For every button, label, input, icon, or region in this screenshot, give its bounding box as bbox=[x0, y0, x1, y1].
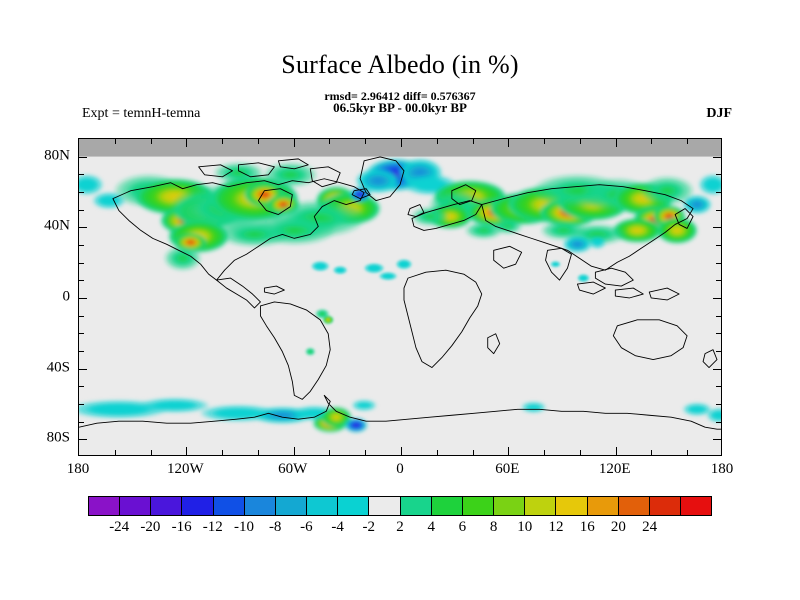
lon-tick-top-minor bbox=[258, 139, 259, 144]
lat-tick-right-major bbox=[713, 157, 721, 158]
lon-tick-major bbox=[616, 447, 617, 455]
lon-tick-top-minor bbox=[115, 139, 116, 144]
lon-tick-minor bbox=[222, 450, 223, 455]
colorbar-tick-label: -10 bbox=[234, 519, 254, 536]
lon-label-60w: 60W bbox=[278, 461, 307, 478]
colorbar-segment bbox=[588, 497, 619, 515]
lat-tick-right-major bbox=[713, 227, 721, 228]
colorbar-segment bbox=[401, 497, 432, 515]
lat-tick-right-minor bbox=[716, 316, 721, 317]
lat-tick-minor bbox=[79, 404, 84, 405]
lon-tick-minor bbox=[258, 450, 259, 455]
lat-tick-right-major bbox=[713, 298, 721, 299]
lon-tick-minor bbox=[151, 450, 152, 455]
lat-tick-minor bbox=[79, 386, 84, 387]
lat-tick-right-minor bbox=[716, 192, 721, 193]
lon-label-60e: 60E bbox=[495, 461, 519, 478]
colorbar-tick-labels: -24-20-16-12-10-8-6-4-224681012162024 bbox=[88, 519, 712, 541]
lon-label-180e: 180 bbox=[711, 461, 734, 478]
colorbar-segment bbox=[151, 497, 182, 515]
lon-tick-minor bbox=[544, 450, 545, 455]
lat-tick-right-minor bbox=[716, 422, 721, 423]
lon-label-120w: 120W bbox=[167, 461, 204, 478]
experiment-label: Expt = temnH-temna bbox=[82, 106, 200, 122]
lat-tick-right-major bbox=[713, 439, 721, 440]
colorbar-segment bbox=[182, 497, 213, 515]
colorbar-tick-label: 20 bbox=[611, 519, 626, 536]
page-title: Surface Albedo (in %) bbox=[0, 50, 800, 80]
colorbar-tick-label: 12 bbox=[549, 519, 564, 536]
colorbar-segment bbox=[89, 497, 120, 515]
colorbar-tick-label: -8 bbox=[269, 519, 282, 536]
world-map-heatmap bbox=[79, 139, 721, 455]
map-plot-area[interactable] bbox=[78, 138, 722, 456]
lon-tick-minor bbox=[437, 450, 438, 455]
lon-tick-top-major bbox=[186, 139, 187, 147]
lon-label-0: 0 bbox=[396, 461, 404, 478]
lon-tick-top-minor bbox=[687, 139, 688, 144]
season-label: DJF bbox=[706, 106, 732, 122]
colorbar-tick-label: 4 bbox=[427, 519, 435, 536]
colorbar-segment bbox=[120, 497, 151, 515]
colorbar-tick-label: 8 bbox=[490, 519, 498, 536]
lat-tick-right-minor bbox=[716, 404, 721, 405]
colorbar-segment bbox=[276, 497, 307, 515]
lon-tick-top-minor bbox=[329, 139, 330, 144]
lon-tick-top-minor bbox=[580, 139, 581, 144]
lon-tick-top-minor bbox=[365, 139, 366, 144]
lat-tick-right-minor bbox=[716, 174, 721, 175]
colorbar-segment bbox=[650, 497, 681, 515]
lat-tick-right-minor bbox=[716, 386, 721, 387]
lon-tick-top-major bbox=[294, 139, 295, 147]
lat-tick-minor bbox=[79, 351, 84, 352]
lon-tick-top-major bbox=[508, 139, 509, 147]
colorbar-segment bbox=[307, 497, 338, 515]
colorbar-segment bbox=[432, 497, 463, 515]
lon-tick-top-minor bbox=[151, 139, 152, 144]
lat-tick-right-minor bbox=[716, 210, 721, 211]
lat-tick-minor bbox=[79, 422, 84, 423]
lat-tick-major bbox=[79, 298, 87, 299]
lon-tick-top-major bbox=[616, 139, 617, 147]
colorbar-segment bbox=[525, 497, 556, 515]
lon-tick-minor bbox=[473, 450, 474, 455]
colorbar-tick-label: 10 bbox=[517, 519, 532, 536]
lon-label-120e: 120E bbox=[599, 461, 631, 478]
colorbar-segment bbox=[494, 497, 525, 515]
lon-tick-minor bbox=[687, 450, 688, 455]
lon-tick-minor bbox=[115, 450, 116, 455]
lat-tick-minor bbox=[79, 333, 84, 334]
lat-tick-right-minor bbox=[716, 280, 721, 281]
lon-tick-minor bbox=[365, 450, 366, 455]
colorbar-tick-label: -6 bbox=[300, 519, 313, 536]
lon-tick-top-minor bbox=[222, 139, 223, 144]
colorbar-segment bbox=[619, 497, 650, 515]
lon-tick-top-minor bbox=[473, 139, 474, 144]
lon-tick-major bbox=[401, 447, 402, 455]
lat-tick-major bbox=[79, 369, 87, 370]
lon-label-180w: 180 bbox=[67, 461, 90, 478]
lat-tick-right-minor bbox=[716, 351, 721, 352]
lat-tick-minor bbox=[79, 245, 84, 246]
arctic-grey-band bbox=[79, 139, 721, 157]
lat-tick-right-minor bbox=[716, 333, 721, 334]
lat-tick-right-minor bbox=[716, 245, 721, 246]
lon-tick-major bbox=[186, 447, 187, 455]
colorbar-tick-label: -24 bbox=[109, 519, 129, 536]
lon-tick-minor bbox=[329, 450, 330, 455]
colorbar-segment bbox=[245, 497, 276, 515]
lon-tick-top-minor bbox=[544, 139, 545, 144]
lat-tick-minor bbox=[79, 263, 84, 264]
lat-tick-minor bbox=[79, 174, 84, 175]
colorbar-tick-label: -16 bbox=[172, 519, 192, 536]
lat-tick-major bbox=[79, 157, 87, 158]
lat-tick-minor bbox=[79, 192, 84, 193]
colorbar-segment bbox=[556, 497, 587, 515]
colorbar[interactable] bbox=[88, 496, 712, 516]
lat-tick-major bbox=[79, 227, 87, 228]
colorbar-tick-label: 16 bbox=[580, 519, 595, 536]
lon-tick-major bbox=[508, 447, 509, 455]
colorbar-segment bbox=[681, 497, 711, 515]
colorbar-tick-label: 2 bbox=[396, 519, 404, 536]
lat-tick-major bbox=[79, 439, 87, 440]
lon-tick-top-minor bbox=[437, 139, 438, 144]
colorbar-tick-label: -2 bbox=[363, 519, 376, 536]
colorbar-tick-label: -4 bbox=[331, 519, 344, 536]
lat-tick-minor bbox=[79, 280, 84, 281]
lon-tick-top-major bbox=[401, 139, 402, 147]
colorbar-tick-label: -12 bbox=[203, 519, 223, 536]
colorbar-segment bbox=[463, 497, 494, 515]
lon-tick-minor bbox=[580, 450, 581, 455]
colorbar-segment bbox=[369, 497, 400, 515]
colorbar-segment bbox=[214, 497, 245, 515]
colorbar-tick-label: 24 bbox=[642, 519, 657, 536]
lon-tick-major bbox=[294, 447, 295, 455]
lon-tick-top-minor bbox=[651, 139, 652, 144]
colorbar-segment bbox=[338, 497, 369, 515]
lon-tick-minor bbox=[651, 450, 652, 455]
lat-tick-minor bbox=[79, 316, 84, 317]
lat-tick-right-minor bbox=[716, 263, 721, 264]
lat-tick-right-major bbox=[713, 369, 721, 370]
lat-tick-minor bbox=[79, 210, 84, 211]
colorbar-tick-label: -20 bbox=[140, 519, 160, 536]
colorbar-tick-label: 6 bbox=[459, 519, 467, 536]
